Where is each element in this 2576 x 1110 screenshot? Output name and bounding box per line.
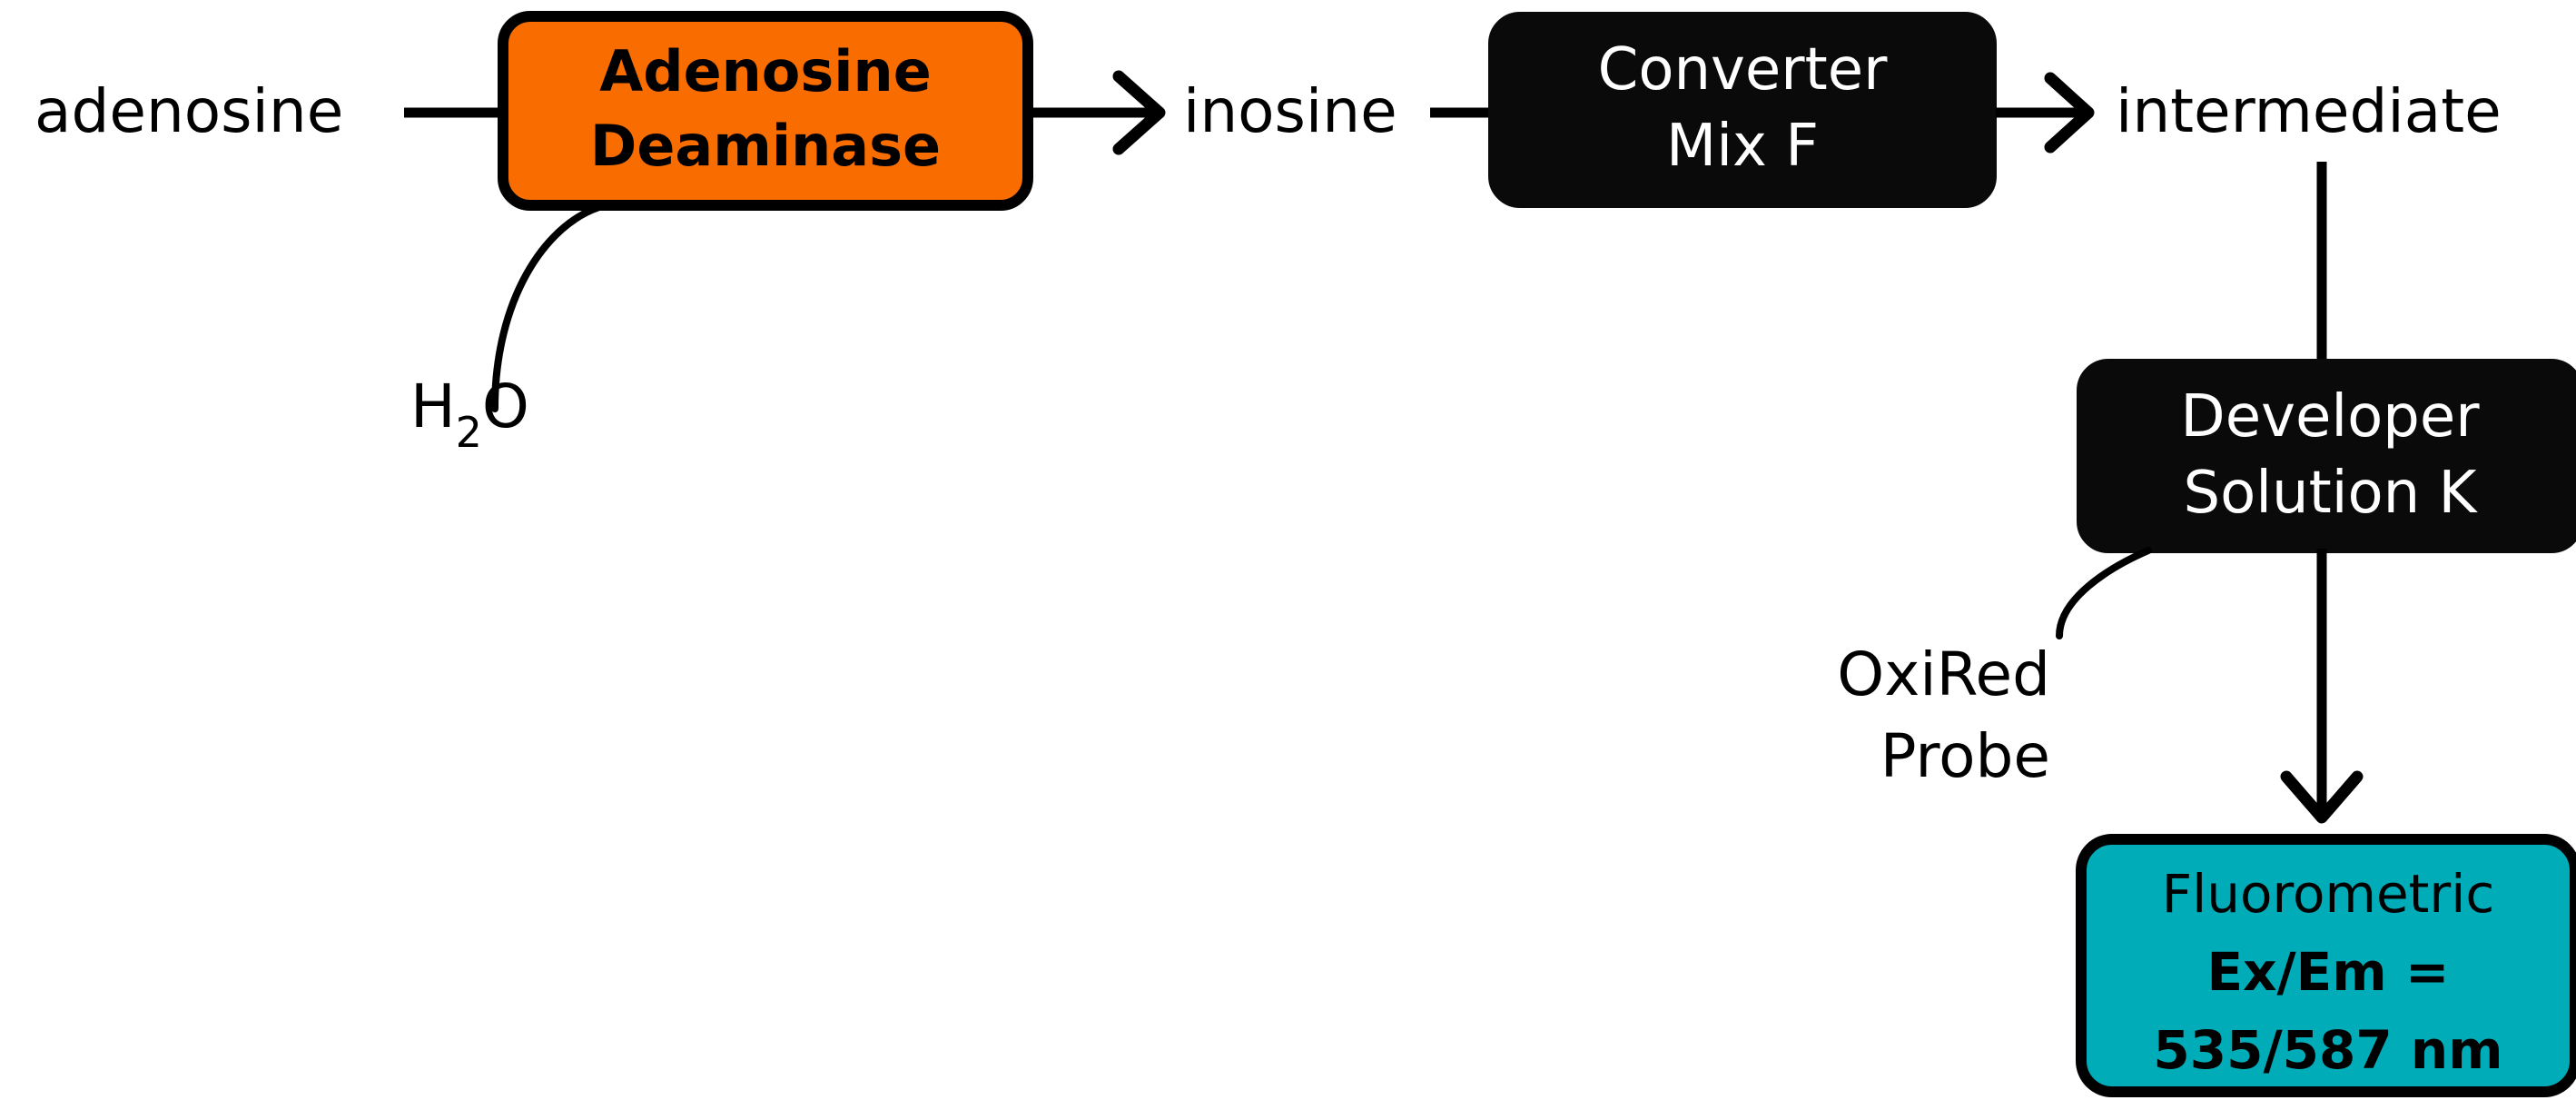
enzyme-box-line2: Deaminase — [590, 113, 941, 179]
node-label-oxired-line2: Probe — [1880, 721, 2050, 791]
converter-box-line2: Mix F — [1666, 113, 1819, 180]
node-label-oxired-line1: OxiRed — [1837, 639, 2050, 709]
enzyme-box-line1: Adenosine — [599, 38, 932, 104]
converter-box-line1: Converter — [1598, 36, 1888, 104]
edge-probe-to-developer — [2059, 550, 2148, 636]
readout-box-line3: 535/587 nm — [2153, 1019, 2502, 1081]
developer-box-line2: Solution K — [2183, 460, 2478, 527]
readout-box-line1: Fluorometric — [2162, 863, 2495, 925]
readout-box-line2: Ex/Em = — [2206, 941, 2449, 1003]
node-label-water: H2O — [410, 372, 529, 457]
node-label-intermediate: intermediate — [2116, 76, 2502, 146]
water-H: H — [410, 372, 456, 441]
node-label-adenosine: adenosine — [35, 76, 343, 146]
water-subscript: 2 — [456, 408, 482, 457]
diagram-canvas: adenosine Adenosine Deaminase H2O inosin… — [0, 0, 2576, 1110]
node-label-inosine: inosine — [1183, 76, 1397, 146]
reaction-diagram: adenosine Adenosine Deaminase H2O inosin… — [0, 0, 2576, 1110]
water-O: O — [482, 372, 529, 441]
developer-box-line1: Developer — [2180, 383, 2480, 451]
